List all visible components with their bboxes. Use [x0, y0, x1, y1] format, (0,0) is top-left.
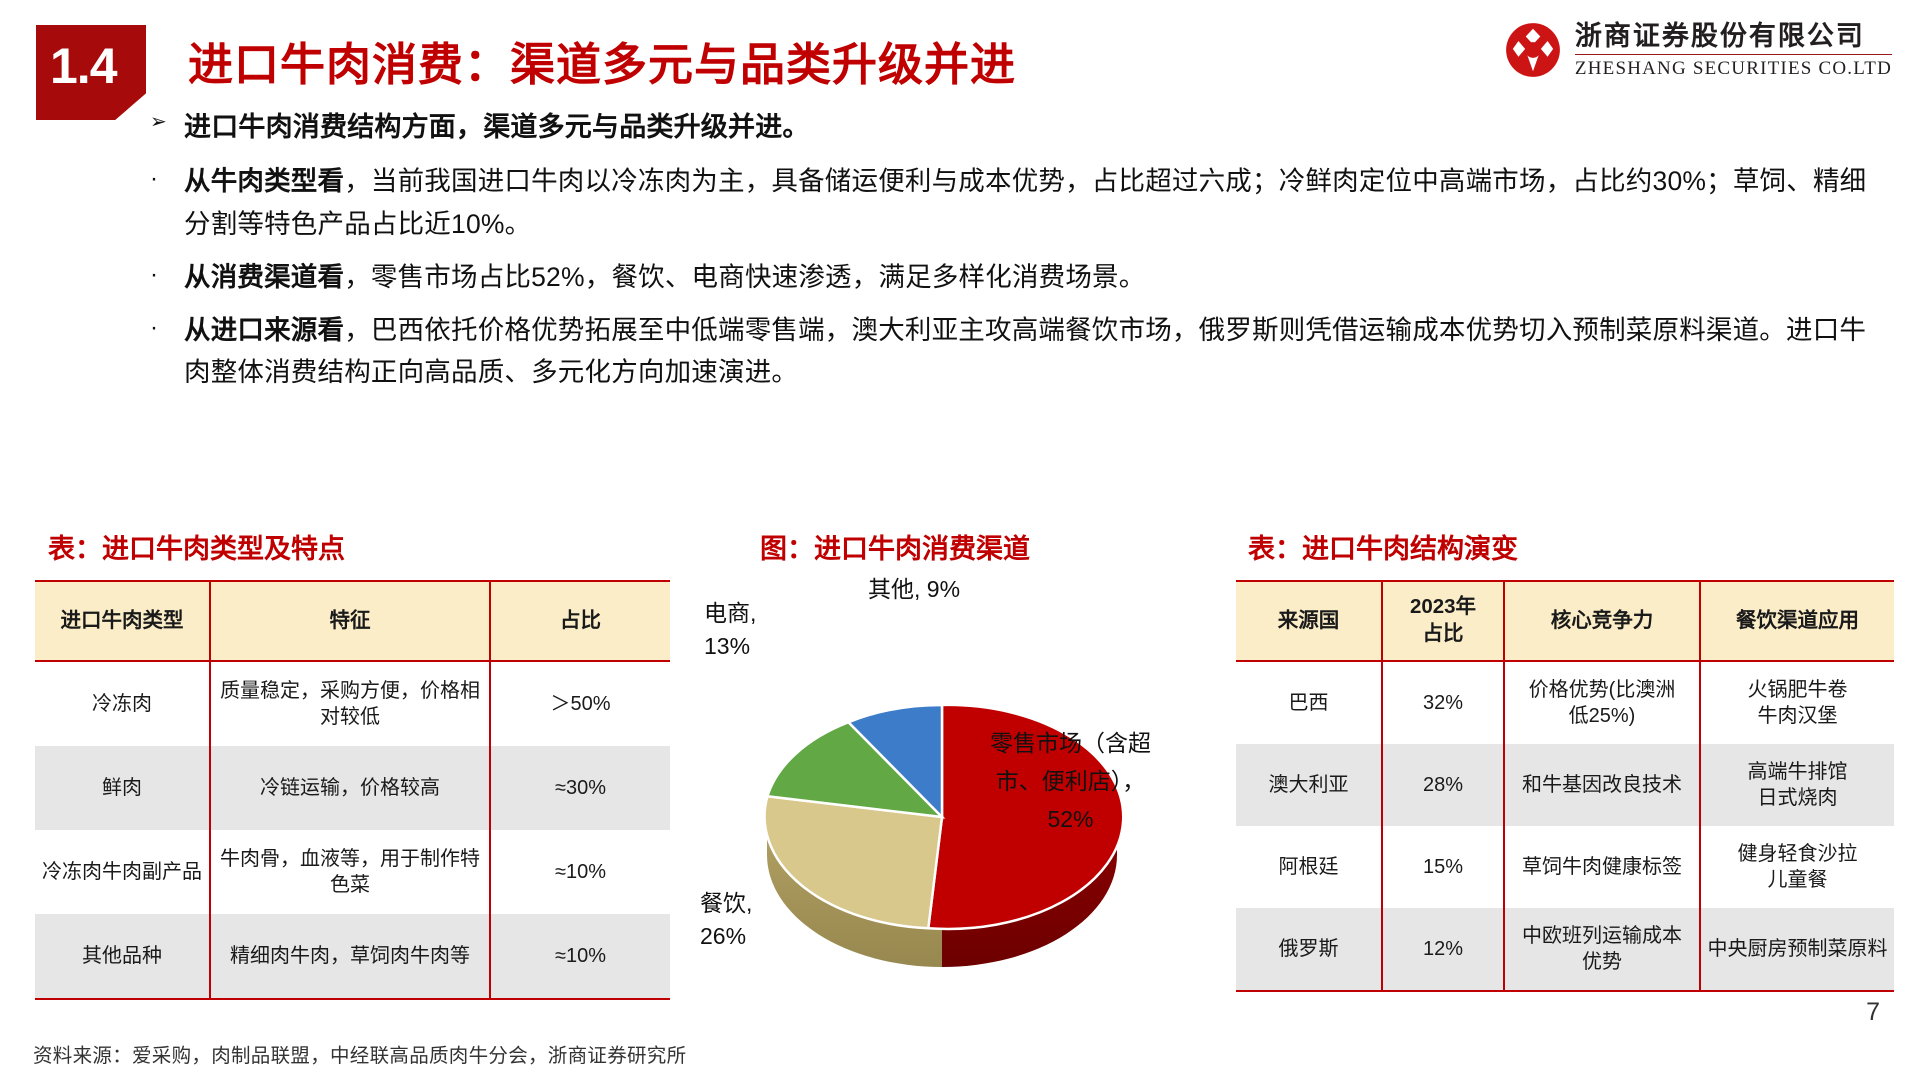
import-beef-types-table: 进口牛肉类型 特征 占比 冷冻肉 质量稳定，采购方便，价格相对较低 ＞50% 鲜… — [35, 580, 670, 1000]
table-row: 冷冻肉牛肉副产品 牛肉骨，血液等，用于制作特色菜 ≈10% — [35, 830, 670, 914]
cell-feature: 冷链运输，价格较高 — [210, 746, 490, 830]
bullet-item: ➢ 进口牛肉消费结构方面，渠道多元与品类升级并进。 — [150, 106, 1890, 150]
cell-feature: 精细肉牛肉，草饲肉牛肉等 — [210, 914, 490, 999]
cell-type: 冷冻肉 — [35, 661, 210, 746]
cell-country: 阿根廷 — [1236, 826, 1382, 908]
cell-advantage: 中欧班列运输成本 优势 — [1504, 908, 1700, 991]
bullet-text: 进口牛肉消费结构方面，渠道多元与品类升级并进。 — [184, 106, 810, 150]
column-header: 2023年 占比 — [1382, 581, 1504, 661]
triangle-bullet-icon: ➢ — [150, 106, 184, 138]
bullet-text: 从进口来源看，巴西依托价格优势拓展至中低端零售端，澳大利亚主攻高端餐饮市场，俄罗… — [184, 309, 1890, 395]
table-row: 其他品种 精细肉牛肉，草饲肉牛肉等 ≈10% — [35, 914, 670, 999]
dot-bullet-icon: · — [150, 256, 184, 295]
cell-country: 澳大利亚 — [1236, 744, 1382, 826]
dot-bullet-icon: · — [150, 309, 184, 348]
cell-share: 28% — [1382, 744, 1504, 826]
cell-share: 15% — [1382, 826, 1504, 908]
pie-label-other: 其他, 9% — [868, 573, 960, 606]
cell-country: 巴西 — [1236, 661, 1382, 744]
column-header: 进口牛肉类型 — [35, 581, 210, 661]
cell-share: 12% — [1382, 908, 1504, 991]
cell-application: 火锅肥牛卷 牛肉汉堡 — [1700, 661, 1894, 744]
bullet-body: ，零售市场占比52%，餐饮、电商快速渗透，满足多样化消费场景。 — [344, 262, 1145, 292]
bullet-list: ➢ 进口牛肉消费结构方面，渠道多元与品类升级并进。 · 从牛肉类型看，当前我国进… — [150, 106, 1890, 404]
import-beef-structure-table: 来源国 2023年 占比 核心竞争力 餐饮渠道应用 巴西 32% 价格优势(比澳… — [1236, 580, 1894, 992]
company-logo: 浙商证券股份有限公司 ZHESHANG SECURITIES CO.LTD — [1505, 22, 1892, 78]
cell-advantage: 草饲牛肉健康标签 — [1504, 826, 1700, 908]
bullet-lead-phrase: 从消费渠道看 — [184, 262, 344, 292]
cell-feature: 质量稳定，采购方便，价格相对较低 — [210, 661, 490, 746]
bullet-text: 从消费渠道看，零售市场占比52%，餐饮、电商快速渗透，满足多样化消费场景。 — [184, 256, 1145, 299]
table-row: 阿根廷 15% 草饲牛肉健康标签 健身轻食沙拉 儿童餐 — [1236, 826, 1894, 908]
pie-label-retail: 零售市场（含超 市、便利店）， 52% — [978, 725, 1163, 839]
bullet-item: · 从进口来源看，巴西依托价格优势拓展至中低端零售端，澳大利亚主攻高端餐饮市场，… — [150, 309, 1890, 395]
pie-label-ecommerce: 电商, 13% — [704, 597, 756, 664]
cell-share: 32% — [1382, 661, 1504, 744]
page-number: 7 — [1866, 998, 1880, 1027]
bullet-body: ，巴西依托价格优势拓展至中低端零售端，澳大利亚主攻高端餐饮市场，俄罗斯则凭借运输… — [184, 315, 1866, 388]
cell-share: ≈30% — [490, 746, 670, 830]
table-row: 澳大利亚 28% 和牛基因改良技术 高端牛排馆 日式烧肉 — [1236, 744, 1894, 826]
cell-application: 高端牛排馆 日式烧肉 — [1700, 744, 1894, 826]
cell-application: 中央厨房预制菜原料 — [1700, 908, 1894, 991]
cell-feature: 牛肉骨，血液等，用于制作特色菜 — [210, 830, 490, 914]
table-header-row: 来源国 2023年 占比 核心竞争力 餐饮渠道应用 — [1236, 581, 1894, 661]
table-row: 鲜肉 冷链运输，价格较高 ≈30% — [35, 746, 670, 830]
cell-type: 冷冻肉牛肉副产品 — [35, 830, 210, 914]
consumption-channel-pie-chart: 其他, 9% 电商, 13% 餐饮, 26% 零售市场（含超 市、便利店）， 5… — [690, 575, 1220, 975]
cell-share: ≈10% — [490, 830, 670, 914]
cell-share: ＞50% — [490, 661, 670, 746]
source-note: 资料来源：爱采购，肉制品联盟，中经联高品质肉牛分会，浙商证券研究所 — [33, 1039, 686, 1068]
column-header: 核心竞争力 — [1504, 581, 1700, 661]
column-header: 特征 — [210, 581, 490, 661]
column-header: 餐饮渠道应用 — [1700, 581, 1894, 661]
bullet-body: ，当前我国进口牛肉以冷冻肉为主，具备储运便利与成本优势，占比超过六成；冷鲜肉定位… — [184, 166, 1866, 239]
cell-type: 鲜肉 — [35, 746, 210, 830]
cell-advantage: 和牛基因改良技术 — [1504, 744, 1700, 826]
bullet-text: 从牛肉类型看，当前我国进口牛肉以冷冻肉为主，具备储运便利与成本优势，占比超过六成… — [184, 160, 1890, 246]
slide-root: 1.4 进口牛肉消费：渠道多元与品类升级并进 浙商证券股份有限公司 ZHESHA… — [0, 0, 1920, 1080]
table-left-title: 表：进口牛肉类型及特点 — [48, 527, 345, 566]
dot-bullet-icon: · — [150, 160, 184, 199]
column-header: 占比 — [490, 581, 670, 661]
bullet-item: · 从消费渠道看，零售市场占比52%，餐饮、电商快速渗透，满足多样化消费场景。 — [150, 256, 1890, 299]
bullet-lead-phrase: 从进口来源看 — [184, 315, 344, 345]
logo-company-en: ZHESHANG SECURITIES CO.LTD — [1575, 55, 1892, 78]
chart-title: 图：进口牛肉消费渠道 — [760, 527, 1030, 566]
logo-text-block: 浙商证券股份有限公司 ZHESHANG SECURITIES CO.LTD — [1575, 23, 1892, 78]
table-row: 冷冻肉 质量稳定，采购方便，价格相对较低 ＞50% — [35, 661, 670, 746]
column-header: 来源国 — [1236, 581, 1382, 661]
cell-type: 其他品种 — [35, 914, 210, 999]
logo-company-cn: 浙商证券股份有限公司 — [1575, 23, 1892, 55]
table-row: 俄罗斯 12% 中欧班列运输成本 优势 中央厨房预制菜原料 — [1236, 908, 1894, 991]
cell-advantage: 价格优势(比澳洲 低25%) — [1504, 661, 1700, 744]
cell-application: 健身轻食沙拉 儿童餐 — [1700, 826, 1894, 908]
cell-country: 俄罗斯 — [1236, 908, 1382, 991]
section-number-label: 1.4 — [50, 41, 117, 91]
bullet-lead-phrase: 从牛肉类型看 — [184, 166, 344, 196]
pie-label-foodservice: 餐饮, 26% — [700, 887, 752, 954]
cell-share: ≈10% — [490, 914, 670, 999]
table-header-row: 进口牛肉类型 特征 占比 — [35, 581, 670, 661]
zheshang-logo-icon — [1505, 22, 1561, 78]
bullet-item: · 从牛肉类型看，当前我国进口牛肉以冷冻肉为主，具备储运便利与成本优势，占比超过… — [150, 160, 1890, 246]
table-right-title: 表：进口牛肉结构演变 — [1248, 527, 1518, 566]
section-number-badge: 1.4 — [36, 25, 146, 120]
table-row: 巴西 32% 价格优势(比澳洲 低25%) 火锅肥牛卷 牛肉汉堡 — [1236, 661, 1894, 744]
page-title: 进口牛肉消费：渠道多元与品类升级并进 — [188, 28, 1016, 93]
